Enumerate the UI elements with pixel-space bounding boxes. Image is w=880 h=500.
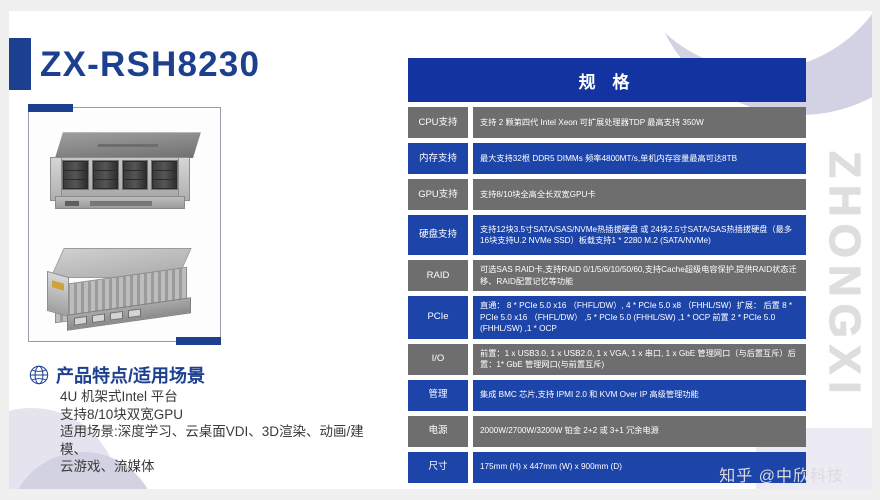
- server-front-view: [51, 132, 201, 210]
- spec-row-value: 可选SAS RAID卡,支持RAID 0/1/5/6/10/50/60,支持Ca…: [473, 260, 806, 291]
- features-heading-row: 产品特点/适用场景: [28, 362, 205, 388]
- slide-canvas: ZHONGXI ZX-RSH8230: [0, 0, 880, 500]
- frame-accent-top-left: [28, 104, 73, 112]
- features-heading: 产品特点/适用场景: [56, 362, 205, 388]
- server-front-io-strip: [55, 196, 185, 209]
- drive-bay: [92, 160, 119, 190]
- drive-bay: [151, 160, 178, 190]
- drive-bay: [62, 160, 89, 190]
- spec-row-label: 硬盘支持: [408, 215, 468, 255]
- page-gutter-top: [0, 0, 880, 11]
- spec-row: 内存支持最大支持32根 DDR5 DIMMs 频率4800MT/s,单机内存容量…: [408, 143, 806, 174]
- spec-row-label: 管理: [408, 380, 468, 411]
- spec-row-value: 支持 2 颗第四代 Intel Xeon 可扩展处理器TDP 最高支持 350W: [473, 107, 806, 138]
- spec-row-value: 支持8/10块全高全长双宽GPU卡: [473, 179, 806, 210]
- spec-row-value: 集成 BMC 芯片,支持 IPMI 2.0 和 KVM Over IP 高级管理…: [473, 380, 806, 411]
- spec-row-label: GPU支持: [408, 179, 468, 210]
- spec-row-value: 直通： 8 * PCIe 5.0 x16 （FHFL/DW）, 4 * PCIe…: [473, 296, 806, 339]
- spec-row: 硬盘支持支持12块3.5寸SATA/SAS/NVMe热插拔硬盘 或 24块2.5…: [408, 215, 806, 255]
- server-rear-view: [47, 248, 207, 330]
- feature-line: 适用场景:深度学习、云桌面VDI、3D渲染、动画/建模、: [60, 423, 390, 458]
- spec-row-value: 2000W/2700W/3200W 铂金 2+2 或 3+1 冗余电源: [473, 416, 806, 447]
- page-gutter-bottom: [0, 489, 880, 500]
- spec-row: 电源2000W/2700W/3200W 铂金 2+2 或 3+1 冗余电源: [408, 416, 806, 447]
- server-drive-bays: [62, 160, 178, 190]
- spec-row-value: 175mm (H) x 447mm (W) x 900mm (D): [473, 452, 806, 483]
- spec-row-label: 电源: [408, 416, 468, 447]
- spec-table-title: 规 格: [408, 58, 806, 102]
- vertical-brand-watermark: ZHONGXI: [814, 76, 874, 476]
- spec-row-value: 支持12块3.5寸SATA/SAS/NVMe热插拔硬盘 或 24块2.5寸SAT…: [473, 215, 806, 255]
- page-title: ZX-RSH8230: [40, 45, 260, 85]
- spec-row: RAID可选SAS RAID卡,支持RAID 0/1/5/6/10/50/60,…: [408, 260, 806, 291]
- feature-line: 4U 机架式Intel 平台: [60, 388, 390, 406]
- spec-row-label: PCIe: [408, 296, 468, 339]
- spec-row: 尺寸175mm (H) x 447mm (W) x 900mm (D): [408, 452, 806, 483]
- spec-row-value: 前置：1 x USB3.0, 1 x USB2.0, 1 x VGA, 1 x …: [473, 344, 806, 375]
- server-rear-side-panel: [47, 271, 69, 317]
- feature-line: 支持8/10块双宽GPU: [60, 406, 390, 424]
- page-gutter-right: [872, 0, 880, 500]
- spec-row: GPU支持支持8/10块全高全长双宽GPU卡: [408, 179, 806, 210]
- spec-row-label: I/O: [408, 344, 468, 375]
- features-text-block: 4U 机架式Intel 平台 支持8/10块双宽GPU 适用场景:深度学习、云桌…: [60, 388, 390, 476]
- drive-bay: [122, 160, 149, 190]
- spec-row-value: 最大支持32根 DDR5 DIMMs 频率4800MT/s,单机内存容量最高可达…: [473, 143, 806, 174]
- spec-row: PCIe直通： 8 * PCIe 5.0 x16 （FHFL/DW）, 4 * …: [408, 296, 806, 339]
- spec-row: 管理集成 BMC 芯片,支持 IPMI 2.0 和 KVM Over IP 高级…: [408, 380, 806, 411]
- spec-row-label: CPU支持: [408, 107, 468, 138]
- product-image-frame: [28, 107, 221, 342]
- frame-accent-bottom-right: [176, 337, 221, 345]
- feature-line: 云游戏、流媒体: [60, 458, 390, 476]
- spec-row-label: RAID: [408, 260, 468, 291]
- specification-table: 规 格 CPU支持支持 2 颗第四代 Intel Xeon 可扩展处理器TDP …: [408, 58, 806, 488]
- spec-row: I/O前置：1 x USB3.0, 1 x USB2.0, 1 x VGA, 1…: [408, 344, 806, 375]
- spec-row: CPU支持支持 2 颗第四代 Intel Xeon 可扩展处理器TDP 最高支持…: [408, 107, 806, 138]
- page-gutter-left: [0, 0, 9, 500]
- vertical-brand-text: ZHONGXI: [819, 151, 869, 400]
- title-accent-bar: [9, 38, 31, 90]
- globe-icon: [28, 364, 50, 386]
- spec-table-body: CPU支持支持 2 颗第四代 Intel Xeon 可扩展处理器TDP 最高支持…: [408, 107, 806, 483]
- spec-row-label: 内存支持: [408, 143, 468, 174]
- server-front-top-panel: [55, 132, 201, 158]
- spec-row-label: 尺寸: [408, 452, 468, 483]
